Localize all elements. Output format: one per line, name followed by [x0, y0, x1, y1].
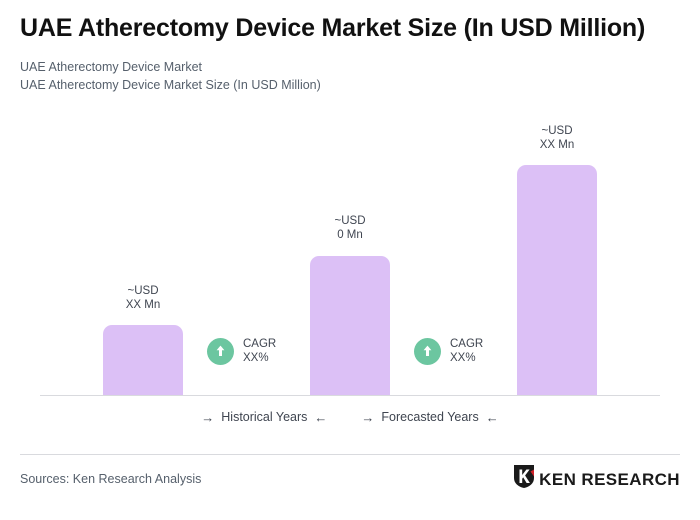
footer-divider — [20, 454, 680, 455]
arrow-left-icon: ← — [314, 411, 327, 424]
bar-value-label: ~USD XX Mn — [88, 284, 198, 312]
chart-plot-area: ~USD XX Mn ~USD 0 Mn ~USD XX Mn CAGR XX% — [0, 0, 700, 400]
bar-value-label: ~USD XX Mn — [502, 124, 612, 152]
bar-forecasted[interactable] — [517, 165, 597, 395]
arrow-up-icon — [414, 338, 441, 365]
arrow-right-icon: → — [361, 411, 374, 424]
cagr-label: CAGR XX% — [243, 337, 276, 365]
legend-item-label: Forecasted Years — [381, 410, 478, 424]
bar-value-label: ~USD 0 Mn — [295, 214, 405, 242]
bar-historical[interactable] — [103, 325, 183, 395]
cagr-label-line2: XX% — [243, 352, 269, 364]
axis-baseline — [40, 395, 660, 396]
sources-text: Sources: Ken Research Analysis — [20, 472, 201, 486]
arrow-right-icon: → — [201, 411, 214, 424]
chart-footer: Sources: Ken Research Analysis KEN RESEA… — [20, 462, 680, 496]
arrow-up-icon — [207, 338, 234, 365]
cagr-label-line2: XX% — [450, 352, 476, 364]
bar-value-label-line2: XX Mn — [502, 138, 612, 152]
legend-item-historical: → Historical Years ← — [201, 410, 327, 424]
bar-value-label-line2: XX Mn — [88, 298, 198, 312]
cagr-label-line1: CAGR — [450, 338, 483, 350]
cagr-marker: CAGR XX% — [414, 337, 483, 365]
bar-value-label-line1: ~USD — [502, 124, 612, 138]
ken-research-logo: KEN RESEARCH — [513, 464, 680, 494]
period-legend: → Historical Years ← → Forecasted Years … — [0, 410, 700, 424]
cagr-label: CAGR XX% — [450, 337, 483, 365]
cagr-label-line1: CAGR — [243, 338, 276, 350]
legend-item-forecasted: → Forecasted Years ← — [361, 410, 498, 424]
ken-shield-icon — [513, 464, 535, 494]
cagr-marker: CAGR XX% — [207, 337, 276, 365]
bar-value-label-line2: 0 Mn — [295, 228, 405, 242]
arrow-left-icon: ← — [486, 411, 499, 424]
legend-item-label: Historical Years — [221, 410, 307, 424]
bar-value-label-line1: ~USD — [295, 214, 405, 228]
bar-value-label-line1: ~USD — [88, 284, 198, 298]
bar-base-year[interactable] — [310, 256, 390, 395]
logo-wordmark: KEN RESEARCH — [539, 471, 680, 488]
